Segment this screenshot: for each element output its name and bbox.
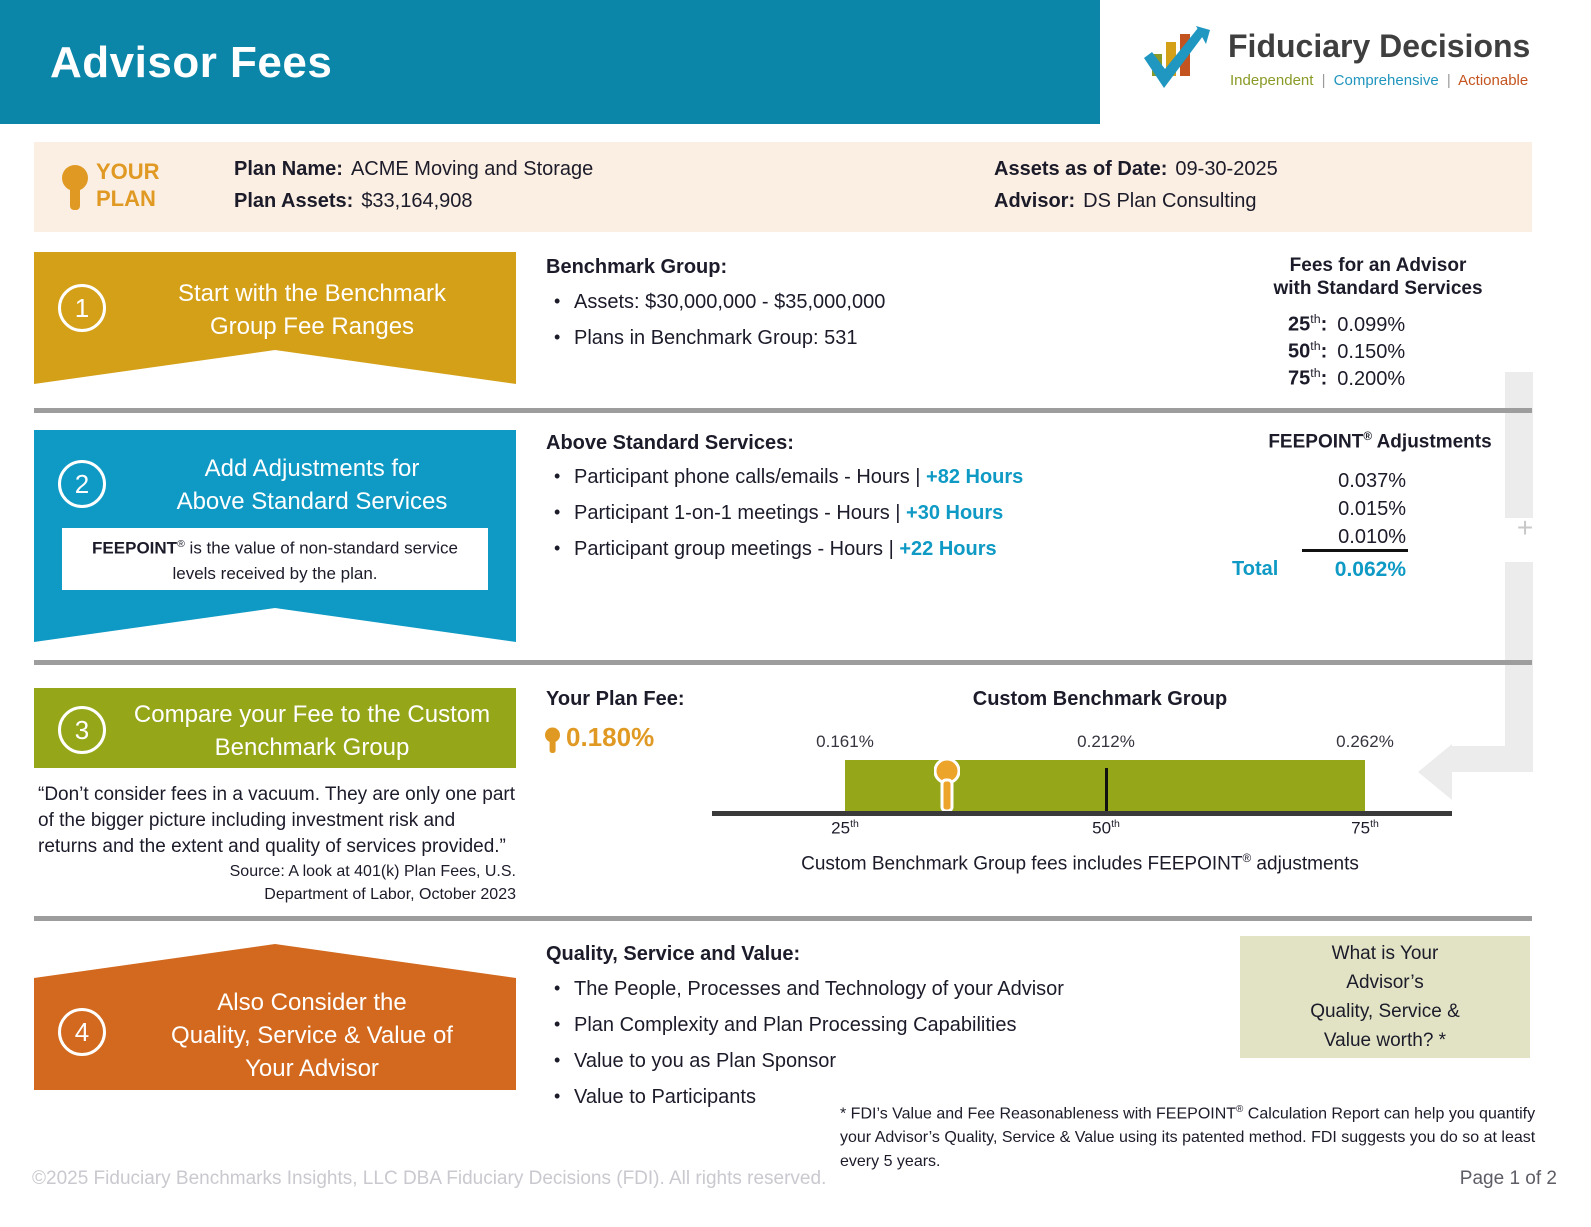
- your-plan-line2: PLAN: [96, 185, 160, 212]
- chart-footnote: Custom Benchmark Group fees includes FEE…: [700, 852, 1460, 875]
- step-3-title: Compare your Fee to the Custom Benchmark…: [122, 698, 502, 764]
- percentile-label-75: 75: [1288, 368, 1310, 390]
- your-plan-badge: YOUR PLAN: [96, 158, 160, 212]
- advisor-label: Advisor:: [994, 190, 1075, 212]
- list-item: Plan Complexity and Plan Processing Capa…: [546, 1011, 1186, 1040]
- step-4-title: Also Consider the Quality, Service & Val…: [122, 986, 502, 1085]
- advisor-value-line3: Quality, Service &: [1310, 997, 1460, 1026]
- advisor-value-callout: What is Your Advisor’s Quality, Service …: [1240, 936, 1530, 1058]
- list-item: Participant group meetings - Hours | +22…: [546, 535, 1226, 564]
- chart-value-label-50: 0.212%: [1077, 732, 1135, 752]
- percentile-sup-50: th: [1310, 339, 1320, 353]
- adjustment-value-1: 0.037%: [1300, 470, 1406, 493]
- feepoint-definition-text: FEEPOINT® is the value of non-standard s…: [76, 532, 474, 586]
- advisor-field: Advisor:DS Plan Consulting: [994, 190, 1257, 213]
- standard-fees-heading: Fees for an Advisor with Standard Servic…: [1258, 254, 1498, 300]
- your-plan-strip: YOUR PLAN Plan Name:ACME Moving and Stor…: [34, 142, 1532, 232]
- step-2-banner: 2 Add Adjustments for Above Standard Ser…: [34, 430, 516, 642]
- list-item: Participant phone calls/emails - Hours |…: [546, 463, 1226, 492]
- standard-fees-heading-line2: with Standard Services: [1258, 277, 1498, 300]
- service-hours-1: +82 Hours: [926, 466, 1023, 488]
- chart-value-label-25: 0.161%: [816, 732, 874, 752]
- registered-mark-icon: ®: [177, 538, 185, 550]
- percentile-value-25: 0.099%: [1327, 314, 1405, 336]
- step-2-title-line1: Add Adjustments for: [122, 452, 502, 485]
- benchmark-group-list: Assets: $30,000,000 - $35,000,000 Plans …: [546, 288, 1166, 360]
- above-standard-services-heading: Above Standard Services:: [546, 432, 794, 455]
- advisor-value-line1: What is Your: [1310, 939, 1460, 968]
- percentile-value-50: 0.150%: [1327, 341, 1405, 363]
- step-1-tail: [34, 350, 516, 384]
- benchmark-range-chart: 0.161% 0.212% 0.262% 25th 50th 75th: [712, 726, 1452, 836]
- step-2-title-line2: Above Standard Services: [122, 485, 502, 518]
- adjustments-heading-rest: Adjustments: [1372, 431, 1492, 452]
- brand-logo: Fiduciary Decisions Independent | Compre…: [1140, 20, 1540, 110]
- chart-value-label-75: 0.262%: [1336, 732, 1394, 752]
- plan-name-value: ACME Moving and Storage: [343, 158, 593, 180]
- list-item: Plans in Benchmark Group: 531: [546, 324, 1166, 353]
- feepoint-definition-box: FEEPOINT® is the value of non-standard s…: [62, 528, 488, 590]
- assets-date-field: Assets as of Date:09-30-2025: [994, 158, 1278, 181]
- list-item: Assets: $30,000,000 - $35,000,000: [546, 288, 1166, 317]
- section-divider-2: [34, 660, 1532, 665]
- chart-tick-75-label: 75: [1351, 819, 1370, 838]
- percentile-label-25: 25: [1288, 314, 1310, 336]
- step-3-banner: 3 Compare your Fee to the Custom Benchma…: [34, 688, 516, 768]
- chart-tick-50-sup: th: [1111, 818, 1120, 830]
- feepoint-brand: FEEPOINT: [92, 539, 177, 558]
- step-2-shape: 2 Add Adjustments for Above Standard Ser…: [34, 430, 516, 642]
- step-1-title-line2: Group Fee Ranges: [122, 310, 502, 343]
- percentile-sup-25: th: [1310, 312, 1320, 326]
- step-2-number: 2: [58, 460, 106, 508]
- dol-quote-source-line1: Source: A look at 401(k) Plan Fees, U.S.: [120, 860, 516, 883]
- plan-name-label: Plan Name:: [234, 158, 343, 180]
- registered-mark-icon: ®: [1242, 852, 1251, 865]
- assets-date-label: Assets as of Date:: [994, 158, 1167, 180]
- service-hours-2: +30 Hours: [906, 502, 1003, 524]
- service-text-3: Participant group meetings - Hours |: [574, 538, 899, 560]
- feepoint-definition-rest: is the value of non-standard service lev…: [172, 539, 457, 583]
- flow-segment-elbow: [1450, 746, 1533, 772]
- service-text-1: Participant phone calls/emails - Hours |: [574, 466, 926, 488]
- benchmark-group-heading: Benchmark Group:: [546, 256, 727, 279]
- tagline-sep-2: |: [1443, 72, 1455, 89]
- step-2-title: Add Adjustments for Above Standard Servi…: [122, 452, 502, 518]
- advisor-value-callout-text: What is Your Advisor’s Quality, Service …: [1310, 939, 1460, 1055]
- assets-date-value: 09-30-2025: [1167, 158, 1277, 180]
- advisor-value: DS Plan Consulting: [1075, 190, 1256, 212]
- step-1-number: 1: [58, 284, 106, 332]
- percentile-value-75: 0.200%: [1327, 368, 1405, 390]
- percentile-row-25: 25th:0.099%: [1288, 312, 1405, 337]
- adjustment-total-value: 0.062%: [1300, 558, 1406, 582]
- logo-wordmark: Fiduciary Decisions: [1228, 28, 1530, 65]
- step-4-title-line1: Also Consider the: [122, 986, 502, 1019]
- chart-tick-50: 50th: [1092, 818, 1120, 839]
- feepoint-adjustments-heading: FEEPOINT® Adjustments: [1230, 430, 1530, 453]
- advisor-value-line4: Value worth? *: [1310, 1026, 1460, 1055]
- step-1-banner: 1 Start with the Benchmark Group Fee Ran…: [34, 252, 516, 384]
- chart-tick-25-label: 25: [831, 819, 850, 838]
- adjustment-value-3: 0.010%: [1300, 526, 1406, 549]
- adjustment-total-rule: [1302, 549, 1408, 552]
- registered-mark-icon: ®: [1363, 430, 1372, 443]
- plan-assets-field: Plan Assets:$33,164,908: [234, 190, 473, 213]
- quality-service-value-heading: Quality, Service and Value:: [546, 943, 800, 966]
- step-3-title-line1: Compare your Fee to the Custom: [122, 698, 502, 731]
- chart-tick-75: 75th: [1351, 818, 1379, 839]
- dol-quote-source-line2: Department of Labor, October 2023: [120, 883, 516, 906]
- section-divider-1: [34, 408, 1532, 413]
- step-3-title-line2: Benchmark Group: [122, 731, 502, 764]
- plan-assets-value: $33,164,908: [353, 190, 472, 212]
- adjustment-value-2: 0.015%: [1300, 498, 1406, 521]
- your-plan-line1: YOUR: [96, 158, 160, 185]
- flow-segment-bottom: [1505, 562, 1533, 772]
- step-4-title-line3: Your Advisor: [122, 1052, 502, 1085]
- your-plan-fee-value: 0.180%: [566, 722, 654, 753]
- list-item: Value to you as Plan Sponsor: [546, 1047, 1186, 1076]
- advisor-value-line2: Advisor’s: [1310, 968, 1460, 997]
- logo-tagline: Independent | Comprehensive | Actionable: [1230, 72, 1528, 89]
- lightbulb-icon: [544, 726, 561, 754]
- chart-tick-75-sup: th: [1370, 818, 1379, 830]
- service-hours-3: +22 Hours: [899, 538, 996, 560]
- chart-axis-line: [712, 811, 1452, 816]
- plan-assets-label: Plan Assets:: [234, 190, 353, 212]
- adjustments-brand: FEEPOINT: [1268, 431, 1363, 452]
- adjustment-total-label: Total: [1232, 558, 1278, 581]
- dol-quote-source: Source: A look at 401(k) Plan Fees, U.S.…: [120, 860, 516, 906]
- step-1-title-line1: Start with the Benchmark: [122, 277, 502, 310]
- step-3-number: 3: [58, 706, 106, 754]
- step-4-banner: 4 Also Consider the Quality, Service & V…: [34, 944, 516, 1090]
- page-title: Advisor Fees: [50, 38, 332, 88]
- percentile-row-75: 75th:0.200%: [1288, 366, 1405, 391]
- step-4-number: 4: [58, 1008, 106, 1056]
- report-footnote-pre: * FDI’s Value and Fee Reasonableness wit…: [840, 1105, 1236, 1122]
- report-page: + Advisor Fees Fiduciary Decisions Indep…: [0, 0, 1591, 1227]
- tagline-actionable: Actionable: [1458, 72, 1528, 89]
- chart-footnote-post: adjustments: [1251, 853, 1359, 874]
- chart-tick-25: 25th: [831, 818, 859, 839]
- above-standard-services-list: Participant phone calls/emails - Hours |…: [546, 463, 1226, 571]
- plus-icon: +: [1514, 518, 1536, 540]
- footer-page-number: Page 1 of 2: [1460, 1168, 1557, 1190]
- dol-quote: “Don’t consider fees in a vacuum. They a…: [38, 782, 516, 860]
- chart-tick-25-sup: th: [850, 818, 859, 830]
- standard-fees-heading-line1: Fees for an Advisor: [1258, 254, 1498, 277]
- step-4-shape: 4 Also Consider the Quality, Service & V…: [34, 944, 516, 1090]
- step-1-shape: 1 Start with the Benchmark Group Fee Ran…: [34, 252, 516, 384]
- median-marker: [1105, 768, 1108, 813]
- percentile-row-50: 50th:0.150%: [1288, 339, 1405, 364]
- tagline-sep-1: |: [1318, 72, 1330, 89]
- step-4-title-line2: Quality, Service & Value of: [122, 1019, 502, 1052]
- footer-copyright: ©2025 Fiduciary Benchmarks Insights, LLC…: [32, 1168, 826, 1190]
- fiduciary-decisions-logo-icon: [1140, 24, 1218, 100]
- list-item: The People, Processes and Technology of …: [546, 975, 1186, 1004]
- lightbulb-icon: [60, 162, 90, 212]
- chart-tick-50-label: 50: [1092, 819, 1111, 838]
- chart-footnote-pre: Custom Benchmark Group fees includes FEE…: [801, 853, 1242, 874]
- report-footnote: * FDI’s Value and Fee Reasonableness wit…: [840, 1098, 1540, 1174]
- tagline-independent: Independent: [1230, 72, 1313, 89]
- step-3-shape: 3 Compare your Fee to the Custom Benchma…: [34, 688, 516, 768]
- step-1-title: Start with the Benchmark Group Fee Range…: [122, 277, 502, 343]
- chart-title: Custom Benchmark Group: [860, 688, 1340, 711]
- percentile-label-50: 50: [1288, 341, 1310, 363]
- step-4-head: [34, 944, 516, 978]
- section-divider-3: [34, 916, 1532, 921]
- service-text-2: Participant 1-on-1 meetings - Hours |: [574, 502, 906, 524]
- step-2-tail: [34, 608, 516, 642]
- your-plan-fee-marker-icon: [934, 752, 960, 814]
- tagline-comprehensive: Comprehensive: [1334, 72, 1439, 89]
- list-item: Participant 1-on-1 meetings - Hours | +3…: [546, 499, 1226, 528]
- your-plan-fee-label: Your Plan Fee:: [546, 688, 685, 711]
- percentile-sup-75: th: [1310, 366, 1320, 380]
- plan-name-field: Plan Name:ACME Moving and Storage: [234, 158, 593, 181]
